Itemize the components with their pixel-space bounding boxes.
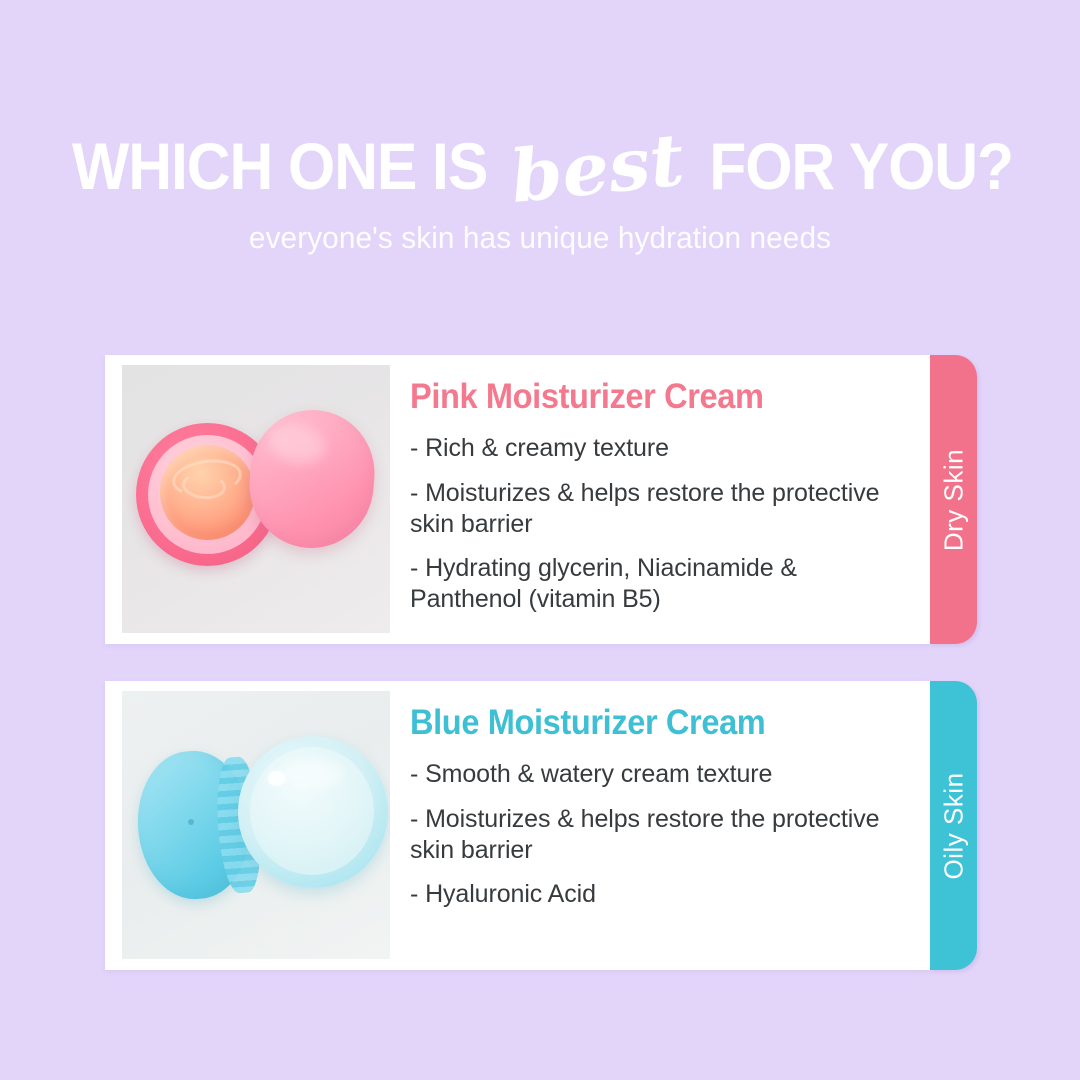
feature-item: - Moisturizes & helps restore the protec… <box>410 478 904 540</box>
header: WHICH ONE IS best FOR YOU? everyone's sk… <box>0 128 1080 256</box>
feature-item: - Smooth & watery cream texture <box>410 759 904 790</box>
skin-type-tab-label: Dry Skin <box>938 448 969 550</box>
product-photo-pink <box>122 365 390 633</box>
headline-part-one: WHICH ONE IS <box>72 133 487 199</box>
cream-bubble-shape <box>268 771 285 786</box>
skin-type-tab-dry[interactable]: Dry Skin <box>930 355 977 644</box>
headline-script-word: best <box>497 122 697 214</box>
product-card-blue[interactable]: Blue Moisturizer Cream - Smooth & watery… <box>105 681 930 970</box>
cream-gloss-shape <box>282 759 344 789</box>
skin-type-tab-label: Oily Skin <box>938 772 969 879</box>
headline-part-two: FOR YOU? <box>709 133 1013 199</box>
jar-lid-center-dot-shape <box>188 819 194 825</box>
product-info-pink: Pink Moisturizer Cream - Rich & creamy t… <box>390 355 930 615</box>
skin-type-tab-oily[interactable]: Oily Skin <box>930 681 977 970</box>
product-info-blue: Blue Moisturizer Cream - Smooth & watery… <box>390 681 930 910</box>
product-title-pink: Pink Moisturizer Cream <box>410 377 869 417</box>
feature-item: - Hyaluronic Acid <box>410 879 904 910</box>
feature-item: - Rich & creamy texture <box>410 433 904 464</box>
feature-item: - Moisturizes & helps restore the protec… <box>410 804 904 866</box>
infographic-canvas: WHICH ONE IS best FOR YOU? everyone's sk… <box>0 0 1080 1080</box>
page-subtitle: everyone's skin has unique hydration nee… <box>22 220 1059 256</box>
feature-item: - Hydrating glycerin, Niacinamide & Pant… <box>410 553 904 615</box>
product-title-blue: Blue Moisturizer Cream <box>410 703 869 743</box>
product-card-pink[interactable]: Pink Moisturizer Cream - Rich & creamy t… <box>105 355 930 644</box>
product-photo-blue <box>122 691 390 959</box>
page-title: WHICH ONE IS best FOR YOU? <box>0 128 1080 200</box>
